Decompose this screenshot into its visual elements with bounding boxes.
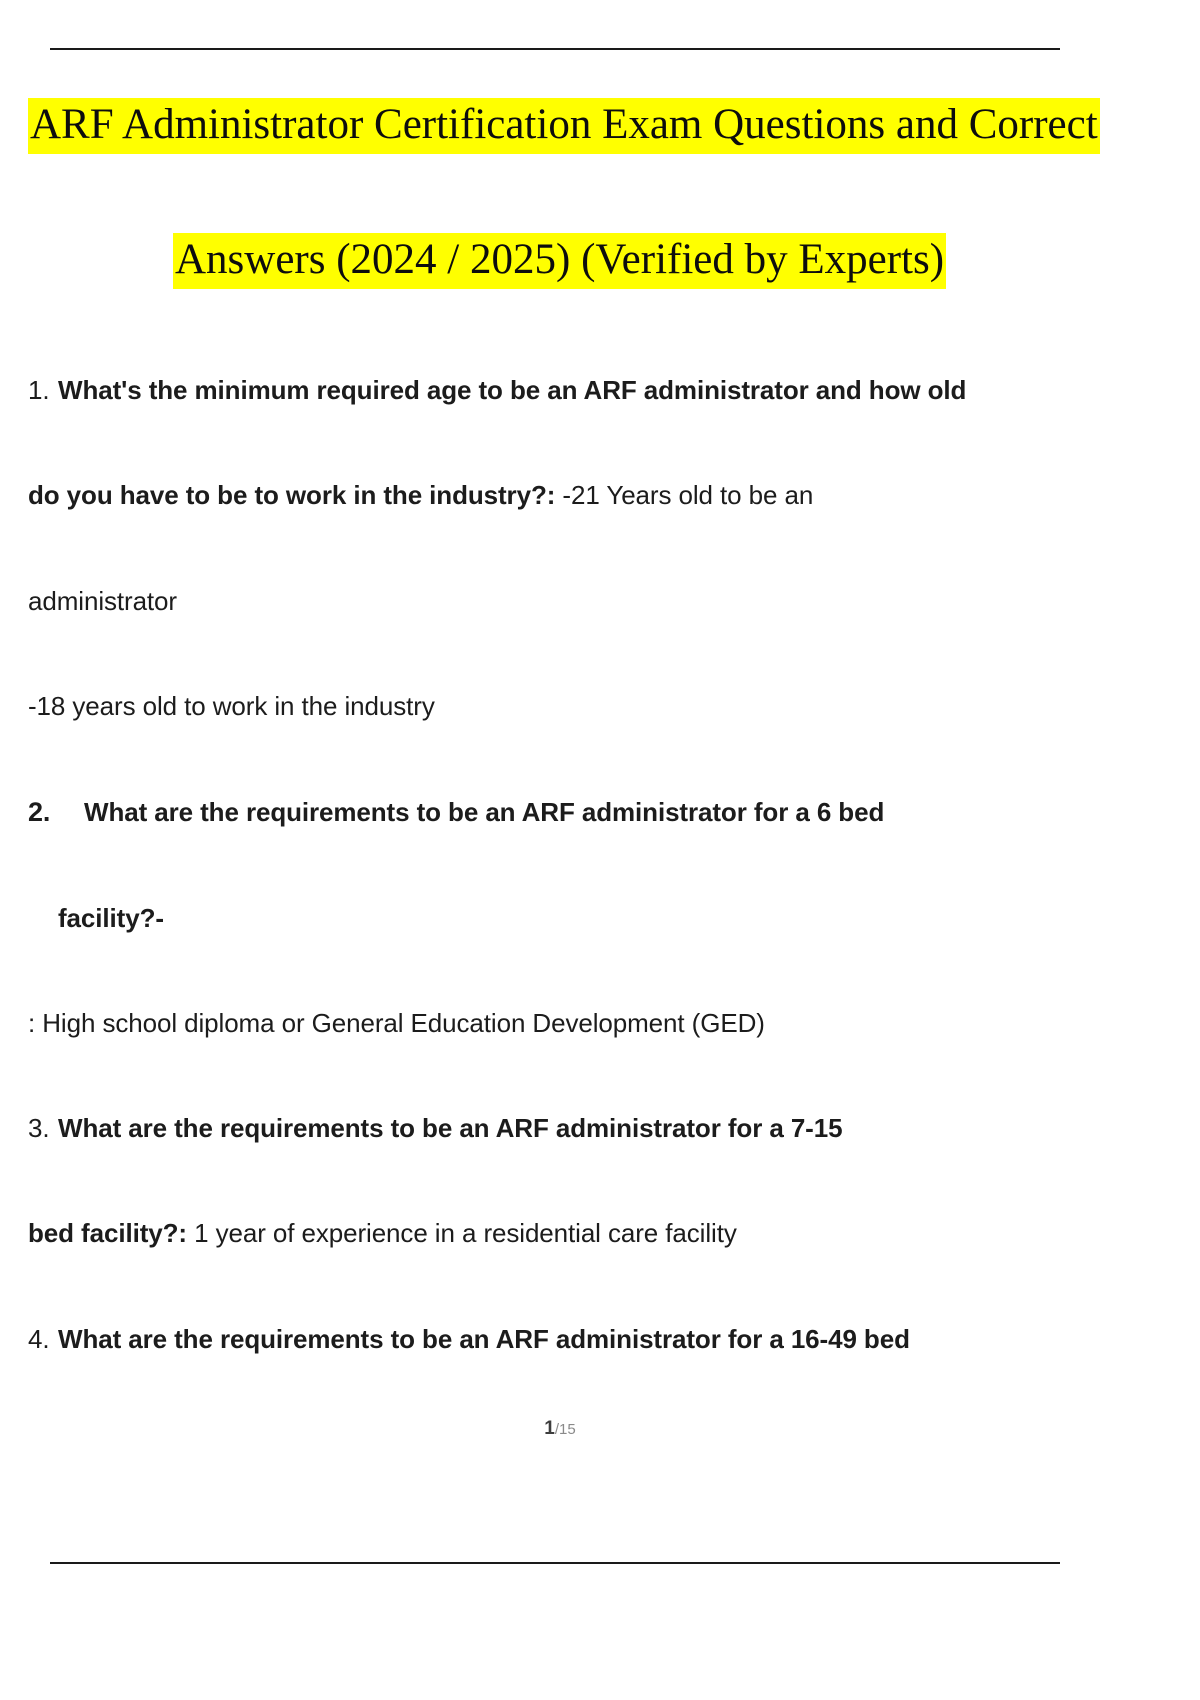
question-2-line-1: 2.What are the requirements to be an ARF…	[28, 798, 1200, 826]
question-1-text-cont: do you have to be to work in the industr…	[28, 480, 555, 510]
question-1-line-2: do you have to be to work in the industr…	[28, 482, 1200, 509]
answer-1-continuation-text: administrator	[28, 586, 177, 616]
header-divider	[50, 48, 1060, 50]
question-2-line-2: facility?-	[28, 905, 1200, 932]
question-1-line-1: 1.What's the minimum required age to be …	[28, 377, 1200, 404]
question-2-number: 2.	[28, 798, 84, 826]
question-1-text: What's the minimum required age to be an…	[58, 375, 966, 405]
document-title-line-2: Answers (2024 / 2025) (Verified by Exper…	[28, 238, 1200, 281]
question-3-text-cont: bed facility?:	[28, 1218, 187, 1248]
answer-1-second-point-text: -18 years old to work in the industry	[28, 691, 435, 721]
question-4-number: 4.	[28, 1326, 58, 1353]
question-4-line-1: 4.What are the requirements to be an ARF…	[28, 1326, 1200, 1353]
question-3-number: 3.	[28, 1115, 58, 1142]
answer-1-text: -21 Years old to be an	[555, 480, 813, 510]
question-2-text: What are the requirements to be an ARF a…	[84, 797, 884, 827]
document-title-line-1: ARF Administrator Certification Exam Que…	[28, 103, 1200, 146]
title-highlight-2: Answers (2024 / 2025) (Verified by Exper…	[173, 233, 946, 289]
question-3-line-2: bed facility?: 1 year of experience in a…	[28, 1220, 1200, 1247]
document-page: ARF Administrator Certification Exam Que…	[0, 0, 1200, 1700]
footer-divider	[50, 1562, 1060, 1564]
qa-list: 1.What's the minimum required age to be …	[28, 377, 1200, 1353]
page-footer: 1/15	[0, 1418, 1120, 1440]
document-content: ARF Administrator Certification Exam Que…	[28, 95, 1200, 1353]
question-3-text: What are the requirements to be an ARF a…	[58, 1113, 842, 1143]
answer-2-text: : High school diploma or General Educati…	[28, 1008, 765, 1038]
answer-1-second-point: -18 years old to work in the industry	[28, 693, 1200, 720]
total-page-count: 15	[559, 1421, 576, 1438]
answer-3-text: 1 year of experience in a residential ca…	[187, 1218, 737, 1248]
answer-1-continuation: administrator	[28, 588, 1200, 615]
answer-2: : High school diploma or General Educati…	[28, 1010, 1200, 1037]
question-2-text-cont: facility?-	[58, 903, 164, 933]
title-highlight-1: ARF Administrator Certification Exam Que…	[28, 98, 1100, 154]
question-3-line-1: 3.What are the requirements to be an ARF…	[28, 1115, 1200, 1142]
question-1-number: 1.	[28, 377, 58, 404]
current-page-number: 1	[544, 1418, 555, 1439]
question-4-text: What are the requirements to be an ARF a…	[58, 1324, 910, 1354]
